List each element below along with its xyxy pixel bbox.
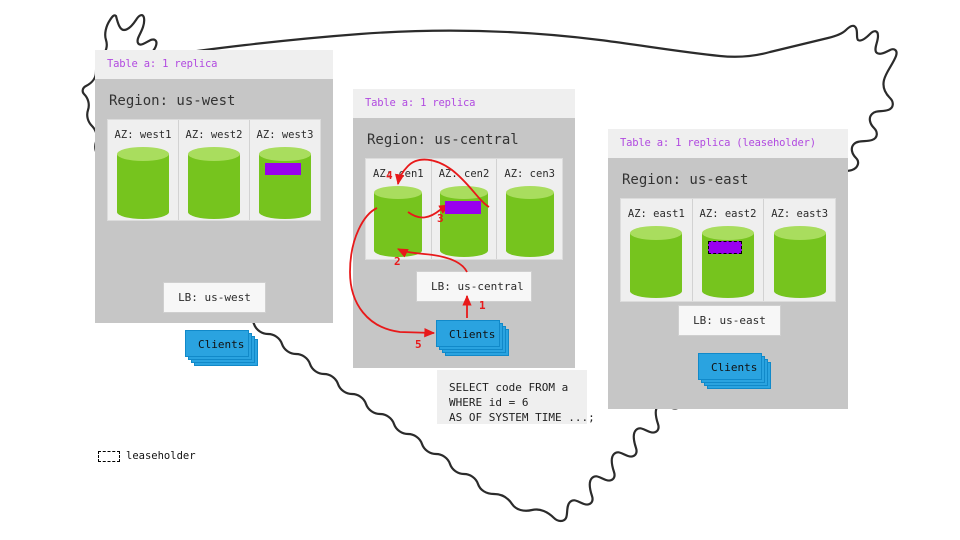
- region-panel-us-east: Table a: 1 replica (leaseholder) Region:…: [608, 129, 848, 409]
- cylinder-top: [506, 186, 554, 199]
- region-title-us-central: Region: us-central: [353, 118, 575, 158]
- replica-marker-east2-leaseholder[interactable]: [708, 241, 742, 254]
- node-cylinder-cen3[interactable]: [506, 186, 554, 258]
- region-panel-us-west: Table a: 1 replica Region: us-west AZ: w…: [95, 50, 333, 323]
- node-cylinder-east3[interactable]: [774, 226, 826, 298]
- az-cell-west1[interactable]: AZ: west1: [108, 120, 179, 220]
- load-balancer-us-central[interactable]: LB: us-central: [416, 271, 532, 302]
- region-caption-us-west: Table a: 1 replica: [95, 50, 333, 79]
- az-cell-east2[interactable]: AZ: east2: [693, 199, 765, 301]
- az-label-east3: AZ: east3: [764, 208, 835, 220]
- load-balancer-us-east[interactable]: LB: us-east: [678, 305, 781, 336]
- az-cell-west3[interactable]: AZ: west3: [250, 120, 320, 220]
- cylinder-top: [630, 226, 682, 240]
- clients-label-us-central[interactable]: Clients: [436, 320, 500, 347]
- az-row-us-central: AZ: cen1 AZ: cen2 AZ: cen3: [365, 158, 563, 260]
- replica-marker-west3[interactable]: [265, 163, 301, 175]
- cylinder-top: [774, 226, 826, 240]
- node-cylinder-cen1[interactable]: [374, 186, 422, 258]
- cylinder-body: [630, 233, 682, 291]
- node-cylinder-east2[interactable]: [702, 226, 754, 298]
- az-label-west3: AZ: west3: [250, 129, 320, 141]
- region-title-us-east: Region: us-east: [608, 158, 848, 198]
- cylinder-body: [188, 154, 240, 212]
- legend: leaseholder: [98, 450, 196, 462]
- cylinder-top: [440, 186, 488, 199]
- dashed-rect-icon: [98, 451, 120, 462]
- az-cell-cen3[interactable]: AZ: cen3: [497, 159, 562, 259]
- az-label-cen2: AZ: cen2: [432, 168, 497, 180]
- region-title-us-west: Region: us-west: [95, 79, 333, 119]
- az-cell-cen2[interactable]: AZ: cen2: [432, 159, 498, 259]
- cylinder-top: [117, 147, 169, 161]
- az-row-us-east: AZ: east1 AZ: east2 AZ: east3: [620, 198, 836, 302]
- clients-stack-us-central[interactable]: Clients: [436, 320, 500, 347]
- replica-marker-cen2[interactable]: [445, 201, 481, 214]
- cylinder-body: [506, 193, 554, 251]
- az-cell-east3[interactable]: AZ: east3: [764, 199, 835, 301]
- region-panel-us-central: Table a: 1 replica Region: us-central AZ…: [353, 89, 575, 368]
- cylinder-body: [374, 193, 422, 251]
- node-cylinder-west2[interactable]: [188, 147, 240, 219]
- az-label-cen1: AZ: cen1: [366, 168, 431, 180]
- legend-label: leaseholder: [126, 450, 196, 462]
- cylinder-top: [188, 147, 240, 161]
- az-label-west2: AZ: west2: [179, 129, 249, 141]
- az-cell-west2[interactable]: AZ: west2: [179, 120, 250, 220]
- az-label-cen3: AZ: cen3: [497, 168, 562, 180]
- load-balancer-us-west[interactable]: LB: us-west: [163, 282, 266, 313]
- clients-label-us-east[interactable]: Clients: [698, 353, 762, 380]
- az-label-east1: AZ: east1: [621, 208, 692, 220]
- sql-query-box: SELECT code FROM a WHERE id = 6 AS OF SY…: [437, 370, 587, 424]
- az-cell-cen1[interactable]: AZ: cen1: [366, 159, 432, 259]
- clients-stack-us-east[interactable]: Clients: [698, 353, 762, 380]
- cylinder-body: [774, 233, 826, 291]
- az-row-us-west: AZ: west1 AZ: west2 AZ: west3: [107, 119, 321, 221]
- clients-label-us-west[interactable]: Clients: [185, 330, 249, 357]
- node-cylinder-east1[interactable]: [630, 226, 682, 298]
- region-caption-us-central: Table a: 1 replica: [353, 89, 575, 118]
- node-cylinder-west1[interactable]: [117, 147, 169, 219]
- cylinder-top: [374, 186, 422, 199]
- node-cylinder-cen2[interactable]: [440, 186, 488, 258]
- az-label-west1: AZ: west1: [108, 129, 178, 141]
- region-caption-us-east: Table a: 1 replica (leaseholder): [608, 129, 848, 158]
- diagram-canvas: Table a: 1 replica Region: us-west AZ: w…: [0, 0, 960, 540]
- node-cylinder-west3[interactable]: [259, 147, 311, 219]
- clients-stack-us-west[interactable]: Clients: [185, 330, 249, 357]
- cylinder-body: [117, 154, 169, 212]
- az-label-east2: AZ: east2: [693, 208, 764, 220]
- az-cell-east1[interactable]: AZ: east1: [621, 199, 693, 301]
- cylinder-top: [259, 147, 311, 161]
- cylinder-top: [702, 226, 754, 240]
